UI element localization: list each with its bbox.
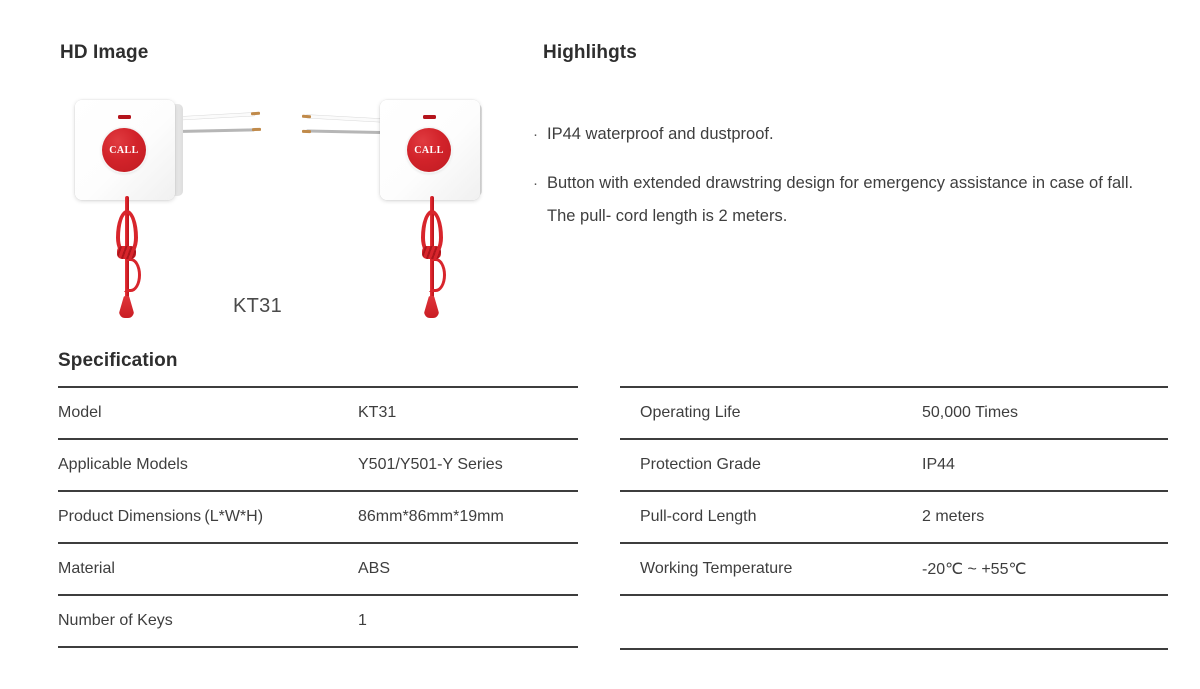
spec-value: 50,000 Times — [922, 387, 1168, 439]
pull-cord — [412, 196, 452, 326]
table-row: Pull-cord Length 2 meters — [620, 491, 1168, 543]
product-model-caption: KT31 — [233, 295, 282, 318]
highlight-text: IP44 waterproof and dustproof. — [547, 118, 1153, 151]
spec-value: ABS — [358, 543, 578, 595]
spec-value: KT31 — [358, 387, 578, 439]
spec-label: Model — [58, 387, 358, 439]
highlight-item: · IP44 waterproof and dustproof. — [533, 118, 1153, 151]
product-device-front-right: CALL — [300, 88, 500, 328]
spec-value: Y501/Y501-Y Series — [358, 439, 578, 491]
spec-label: Product Dimensions (L*W*H) — [58, 491, 358, 543]
spec-value: IP44 — [922, 439, 1168, 491]
spec-value: 2 meters — [922, 491, 1168, 543]
spec-label: Protection Grade — [620, 439, 922, 491]
table-row: Model KT31 — [58, 387, 578, 439]
table-row: Working Temperature -20℃ ~ +55℃ — [620, 543, 1168, 595]
spec-label: Working Temperature — [620, 543, 922, 595]
call-button-label: CALL — [109, 145, 138, 156]
spec-value — [922, 595, 1168, 649]
cord-pull-tab — [424, 296, 439, 318]
led-indicator-icon — [118, 115, 131, 119]
highlights-list: · IP44 waterproof and dustproof. · Butto… — [533, 118, 1153, 249]
wire-white — [306, 115, 382, 122]
call-button-label: CALL — [414, 145, 443, 156]
spec-value: -20℃ ~ +55℃ — [922, 543, 1168, 595]
cord-loop-lower — [124, 258, 141, 292]
table-row: Applicable Models Y501/Y501-Y Series — [58, 439, 578, 491]
table-row: Operating Life 50,000 Times — [620, 387, 1168, 439]
spec-value: 1 — [358, 595, 578, 647]
led-indicator-icon — [423, 115, 436, 119]
pull-cord — [107, 196, 147, 326]
spec-label: Operating Life — [620, 387, 922, 439]
wire-copper-tip — [252, 128, 261, 131]
product-device-front-left: CALL — [65, 88, 265, 328]
highlight-text: Button with extended drawstring design f… — [547, 167, 1153, 233]
wire-gray — [306, 129, 382, 134]
spec-label: Pull-cord Length — [620, 491, 922, 543]
bullet-icon: · — [533, 118, 547, 151]
call-button: CALL — [407, 128, 451, 172]
wire-copper-tip — [251, 112, 260, 115]
cord-loop-lower — [429, 258, 446, 292]
wire-copper-tip — [302, 130, 311, 133]
cord-knot — [422, 246, 441, 259]
call-button: CALL — [102, 128, 146, 172]
specification-heading: Specification — [58, 350, 178, 372]
highlight-item: · Button with extended drawstring design… — [533, 167, 1153, 233]
product-image-stage: CALL CALL — [55, 88, 525, 333]
cord-pull-tab — [119, 296, 134, 318]
hd-image-heading: HD Image — [60, 42, 148, 64]
spec-label: Applicable Models — [58, 439, 358, 491]
specification-table-left: Model KT31 Applicable Models Y501/Y501-Y… — [58, 386, 578, 648]
spec-label: Material — [58, 543, 358, 595]
table-row: Product Dimensions (L*W*H) 86mm*86mm*19m… — [58, 491, 578, 543]
table-row: Protection Grade IP44 — [620, 439, 1168, 491]
spec-label — [620, 595, 922, 649]
wire-gray — [177, 128, 255, 133]
wire-white — [177, 113, 255, 120]
bullet-icon: · — [533, 167, 547, 200]
spec-label: Number of Keys — [58, 595, 358, 647]
highlights-heading: Highlihgts — [543, 42, 637, 64]
cord-knot — [117, 246, 136, 259]
table-row: Number of Keys 1 — [58, 595, 578, 647]
wire-copper-tip — [302, 115, 311, 118]
specification-table-right: Operating Life 50,000 Times Protection G… — [620, 386, 1168, 650]
table-row: Material ABS — [58, 543, 578, 595]
table-row-empty — [620, 595, 1168, 649]
spec-value: 86mm*86mm*19mm — [358, 491, 578, 543]
